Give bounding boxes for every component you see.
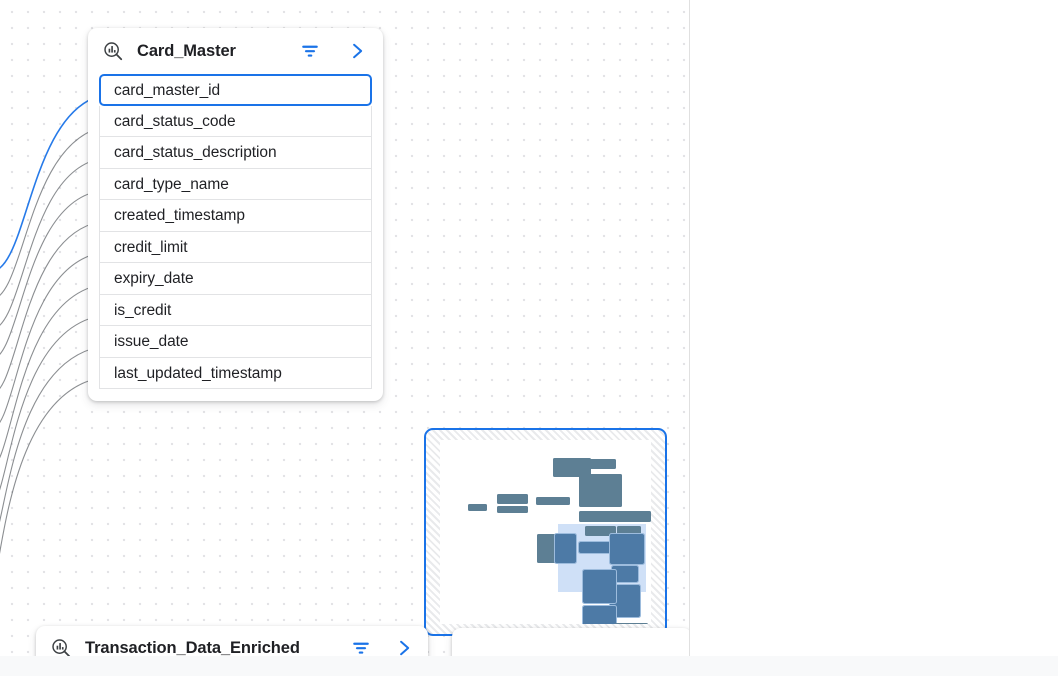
- field-row[interactable]: issue_date: [99, 326, 372, 358]
- minimap-node: [583, 570, 616, 603]
- minimap-node: [555, 534, 576, 563]
- field-list: card_master_idcard_status_codecard_statu…: [88, 74, 383, 389]
- filter-icon[interactable]: [350, 637, 372, 656]
- minimap-node: [497, 494, 528, 504]
- minimap-node: [615, 623, 648, 624]
- field-row[interactable]: card_status_description: [99, 137, 372, 169]
- node-header: Card_Master: [88, 28, 383, 74]
- node-title: Card_Master: [137, 42, 236, 61]
- minimap-node: [536, 497, 570, 505]
- lineage-minimap[interactable]: [424, 428, 667, 636]
- node-card-master[interactable]: Card_Master card_master_idcard_status_co…: [88, 28, 383, 401]
- magnifier-bars-icon[interactable]: [50, 637, 72, 656]
- field-row[interactable]: card_type_name: [99, 169, 372, 201]
- minimap-node: [579, 474, 622, 507]
- field-row[interactable]: card_status_code: [99, 106, 372, 138]
- field-row[interactable]: expiry_date: [99, 263, 372, 295]
- node-title: Transaction_Data_Enriched: [85, 639, 300, 657]
- right-side-panel: Visualize Lineage: [690, 0, 1058, 656]
- node-card-partial-stub[interactable]: [452, 628, 689, 656]
- lineage-explorer-screen: Card_Master card_master_idcard_status_co…: [0, 0, 1058, 676]
- magnifier-bars-icon[interactable]: [102, 40, 124, 62]
- minimap-node: [610, 534, 644, 564]
- field-row[interactable]: last_updated_timestamp: [99, 358, 372, 390]
- field-row[interactable]: created_timestamp: [99, 200, 372, 232]
- chevron-right-icon[interactable]: [347, 40, 367, 62]
- minimap-node: [497, 506, 528, 513]
- footer-strip: [0, 656, 1058, 676]
- field-row[interactable]: credit_limit: [99, 232, 372, 264]
- field-row[interactable]: is_credit: [99, 295, 372, 327]
- minimap-content[interactable]: [440, 440, 651, 624]
- chevron-right-icon[interactable]: [394, 637, 414, 656]
- node-card-transaction-data-enriched[interactable]: Transaction_Data_Enriched: [36, 626, 428, 656]
- minimap-node: [468, 504, 487, 511]
- filter-icon[interactable]: [299, 40, 321, 62]
- node-header: Transaction_Data_Enriched: [36, 626, 428, 656]
- minimap-node: [585, 459, 616, 469]
- minimap-node: [583, 606, 616, 624]
- field-row[interactable]: card_master_id: [99, 74, 372, 106]
- lineage-canvas[interactable]: Card_Master card_master_idcard_status_co…: [0, 0, 689, 656]
- minimap-node: [612, 511, 651, 522]
